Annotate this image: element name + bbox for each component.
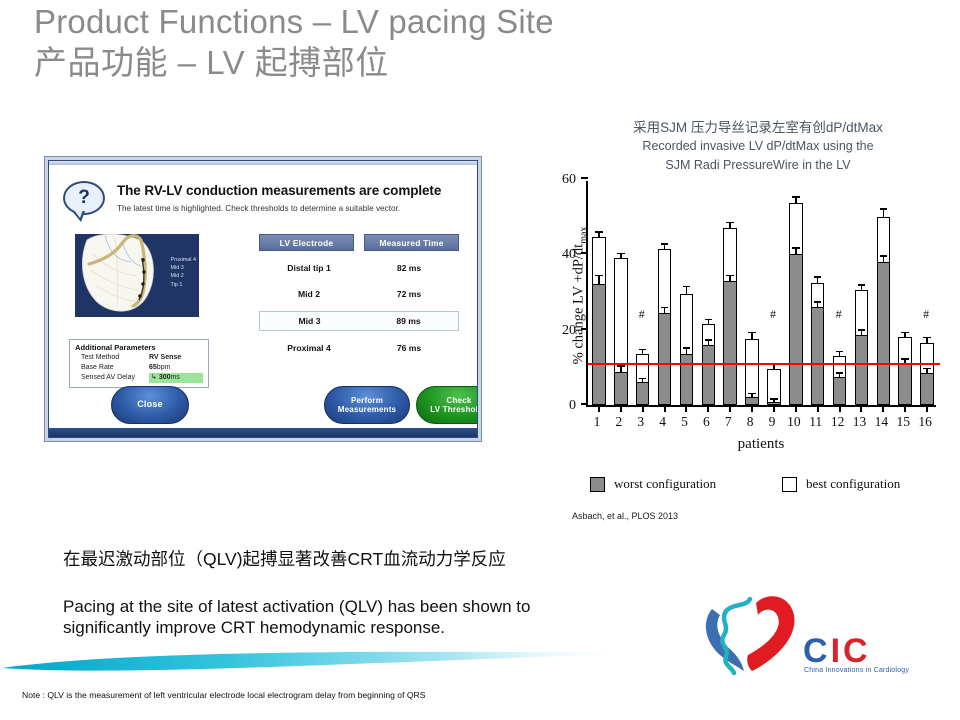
error-cap-worst-14 xyxy=(880,255,888,257)
chart-caption: 采用SJM 压力导丝记录左室有创dP/dtMax Recorded invasi… xyxy=(560,118,956,175)
x-axis-tick-15: 15 xyxy=(892,414,914,430)
y-tick-mark xyxy=(581,403,588,405)
error-cap-worst-12 xyxy=(836,372,844,374)
error-cap-worst-7 xyxy=(726,275,734,277)
x-tick-mark xyxy=(882,405,884,412)
x-tick-mark xyxy=(598,405,600,412)
chart-citation: Asbach, et al., PLOS 2013 xyxy=(572,511,678,521)
x-tick-mark xyxy=(620,405,622,412)
x-axis-tick-16: 16 xyxy=(914,414,936,430)
statement-english-line2: significantly improve CRT hemodynamic re… xyxy=(63,617,753,638)
x-tick-mark xyxy=(904,405,906,412)
table-row[interactable]: Proximal 4 76 ms xyxy=(259,339,459,357)
error-cap-worst-3 xyxy=(639,378,647,380)
device-screen: ? The RV-LV conduction measurements are … xyxy=(48,160,478,438)
error-bar-worst-3 xyxy=(642,379,644,382)
error-cap-best-1 xyxy=(595,231,603,233)
error-bar-best-10 xyxy=(795,198,797,204)
page-title-chinese: 产品功能 – LV 起搏部位 xyxy=(34,42,794,84)
column-header-lv-electrode: LV Electrode xyxy=(259,234,354,251)
heart-electrode-labels: Proximal 4 Mid 3 Mid 2 Tip 1 xyxy=(171,256,196,289)
x-axis-tick-7: 7 xyxy=(717,414,739,430)
table-row[interactable]: Mid 2 72 ms xyxy=(259,285,459,303)
x-axis-tick-3: 3 xyxy=(630,414,652,430)
legend-swatch-best-icon xyxy=(782,477,797,492)
logo-tagline: China Innovations in Cardiology xyxy=(804,667,909,674)
device-titlebar xyxy=(49,161,477,165)
table-row[interactable]: Distal tip 1 82 ms xyxy=(259,259,459,277)
decorative-swoosh xyxy=(0,650,650,684)
error-bar-worst-9 xyxy=(773,400,775,402)
error-bar-worst-2 xyxy=(620,367,622,372)
param-unit: bpm xyxy=(157,363,171,373)
error-bar-best-2 xyxy=(620,254,622,258)
check-lv-thresholds-button[interactable]: Check LV Thresholds xyxy=(416,386,478,424)
param-value: 300 xyxy=(159,373,171,383)
heart-label-tip1: Tip 1 xyxy=(171,281,196,289)
param-row-test-method[interactable]: Test Method RV Sense xyxy=(75,353,203,363)
error-bar-worst-8 xyxy=(751,394,753,397)
bar-worst-3 xyxy=(636,382,650,405)
y-tick-mark xyxy=(581,177,588,179)
error-cap-best-16 xyxy=(923,337,931,339)
statement-english: Pacing at the site of latest activation … xyxy=(63,596,753,638)
param-row-sensed-av-delay[interactable]: Sensed AV Delay ↳ 300 ms xyxy=(75,373,203,383)
x-axis-tick-6: 6 xyxy=(695,414,717,430)
x-axis-tick-13: 13 xyxy=(848,414,870,430)
cell-time: 89 ms xyxy=(359,316,458,326)
error-bar-best-7 xyxy=(729,223,731,228)
heart-label-mid2: Mid 2 xyxy=(171,272,196,280)
bar-worst-14 xyxy=(877,262,891,405)
error-bar-best-3 xyxy=(642,350,644,354)
device-bottom-bar xyxy=(49,428,477,437)
error-bar-worst-16 xyxy=(926,369,928,373)
error-cap-best-12 xyxy=(836,351,844,353)
page-title-english: Product Functions – LV pacing Site xyxy=(34,2,794,42)
logo-letter-i: I xyxy=(831,632,843,670)
x-tick-mark xyxy=(860,405,862,412)
x-tick-mark xyxy=(685,405,687,412)
error-cap-worst-15 xyxy=(901,358,909,360)
cell-electrode: Mid 2 xyxy=(259,289,359,299)
x-tick-mark xyxy=(707,405,709,412)
device-heading: The RV-LV conduction measurements are co… xyxy=(117,183,465,198)
param-key: Sensed AV Delay xyxy=(75,373,149,383)
error-cap-worst-8 xyxy=(748,393,756,395)
bar-worst-1 xyxy=(592,284,606,405)
param-value: RV Sense xyxy=(149,353,181,363)
error-bar-best-6 xyxy=(708,320,710,324)
perform-label-line2: Measurements xyxy=(338,405,396,414)
error-bar-worst-6 xyxy=(708,341,710,345)
x-axis-tick-10: 10 xyxy=(783,414,805,430)
heart-label-proximal4: Proximal 4 xyxy=(171,256,196,264)
error-cap-best-10 xyxy=(792,196,800,198)
bar-worst-15 xyxy=(898,364,912,405)
error-bar-best-11 xyxy=(817,278,819,283)
slide-footnote: Note : QLV is the measurement of left ve… xyxy=(22,690,425,700)
bar-worst-8 xyxy=(745,397,759,405)
y-tick-mark xyxy=(581,252,588,254)
device-screenshot-panel: ? The RV-LV conduction measurements are … xyxy=(44,156,482,442)
legend-item-best: best configuration xyxy=(782,476,900,492)
check-label-line2: LV Thresholds xyxy=(430,405,478,414)
y-axis-tick-60: 60 xyxy=(546,172,576,188)
error-bar-best-8 xyxy=(751,333,753,339)
error-cap-worst-16 xyxy=(923,368,931,370)
threshold-line xyxy=(588,363,940,365)
error-cap-best-7 xyxy=(726,222,734,224)
error-bar-worst-10 xyxy=(795,249,797,255)
cell-electrode: Distal tip 1 xyxy=(259,263,359,273)
x-axis-tick-5: 5 xyxy=(673,414,695,430)
error-bar-worst-13 xyxy=(861,331,863,336)
legend-label-worst: worst configuration xyxy=(614,476,716,492)
legend-swatch-worst-icon xyxy=(590,477,605,492)
table-row-highlighted[interactable]: Mid 3 89 ms xyxy=(259,311,459,331)
logo-wordmark: CIC xyxy=(803,632,871,671)
error-bar-worst-1 xyxy=(598,276,600,284)
x-tick-mark xyxy=(729,405,731,412)
error-bar-best-5 xyxy=(686,287,688,294)
legend-label-best: best configuration xyxy=(806,476,900,492)
chart-caption-english-line1: Recorded invasive LV dP/dtMax using the xyxy=(560,137,956,156)
bar-worst-7 xyxy=(723,281,737,405)
check-label-line1: Check xyxy=(446,396,471,405)
bar-worst-12 xyxy=(833,377,847,405)
error-cap-best-11 xyxy=(814,276,822,278)
x-axis-tick-8: 8 xyxy=(739,414,761,430)
error-cap-best-3 xyxy=(639,349,647,351)
error-cap-worst-5 xyxy=(683,347,691,349)
error-cap-best-6 xyxy=(705,319,713,321)
column-header-measured-time: Measured Time xyxy=(364,234,459,251)
error-cap-worst-2 xyxy=(617,365,625,367)
chart-x-axis-label: patients xyxy=(586,436,936,453)
bar-worst-2 xyxy=(614,372,628,405)
error-bar-best-14 xyxy=(883,210,885,217)
y-axis-tick-0: 0 xyxy=(546,398,576,414)
y-tick-mark xyxy=(581,328,588,330)
error-cap-worst-6 xyxy=(705,339,713,341)
x-axis-tick-9: 9 xyxy=(761,414,783,430)
error-cap-worst-10 xyxy=(792,247,800,249)
error-cap-best-5 xyxy=(683,286,691,288)
additional-parameters-box: Additional Parameters Test Method RV Sen… xyxy=(69,339,209,388)
logo-letter-c1: C xyxy=(803,632,831,670)
error-bar-worst-7 xyxy=(729,276,731,281)
param-unit: ms xyxy=(171,373,180,383)
bar-worst-13 xyxy=(855,335,869,405)
help-icon[interactable]: ? xyxy=(63,181,105,215)
x-axis-tick-11: 11 xyxy=(805,414,827,430)
annotation-hash-16: # xyxy=(923,307,929,322)
error-bar-worst-5 xyxy=(686,349,688,355)
error-cap-best-13 xyxy=(858,284,866,286)
bar-worst-4 xyxy=(658,313,672,405)
legend-item-worst: worst configuration xyxy=(590,476,716,492)
error-bar-worst-14 xyxy=(883,257,885,262)
x-tick-mark xyxy=(926,405,928,412)
error-bar-best-1 xyxy=(598,233,600,238)
x-axis-tick-14: 14 xyxy=(870,414,892,430)
heart-logo-icon xyxy=(690,585,810,681)
cell-time: 72 ms xyxy=(359,289,459,299)
perform-label-line1: Perform xyxy=(351,396,383,405)
error-cap-worst-13 xyxy=(858,329,866,331)
x-tick-mark xyxy=(642,405,644,412)
device-subheading: The latest time is highlighted. Check th… xyxy=(117,204,465,213)
param-key: Test Method xyxy=(75,353,149,363)
annotation-hash-12: # xyxy=(836,307,842,322)
arrow-icon: ↳ xyxy=(149,373,159,383)
x-tick-mark xyxy=(817,405,819,412)
x-tick-mark xyxy=(664,405,666,412)
y-axis-tick-20: 20 xyxy=(546,323,576,339)
error-cap-worst-9 xyxy=(770,398,778,400)
x-tick-mark xyxy=(751,405,753,412)
heart-label-mid3: Mid 3 xyxy=(171,264,196,272)
cell-time: 82 ms xyxy=(359,263,459,273)
error-bar-worst-4 xyxy=(664,308,666,313)
x-tick-mark xyxy=(839,405,841,412)
x-axis-tick-4: 4 xyxy=(652,414,674,430)
error-bar-worst-12 xyxy=(839,374,841,377)
bar-worst-5 xyxy=(680,354,694,405)
logo-letter-c2: C xyxy=(843,632,871,670)
error-bar-best-12 xyxy=(839,352,841,356)
error-cap-best-14 xyxy=(880,208,888,210)
error-cap-best-4 xyxy=(661,243,669,245)
param-value: 65 xyxy=(149,363,157,373)
error-bar-best-4 xyxy=(664,245,666,249)
bar-chart: % change LV +dP/dtmax #### patients 0204… xyxy=(520,168,950,468)
error-bar-worst-11 xyxy=(817,303,819,308)
x-axis-tick-2: 2 xyxy=(608,414,630,430)
bar-worst-6 xyxy=(702,345,716,405)
cic-logo: CIC China Innovations in Cardiology xyxy=(690,585,940,685)
error-cap-worst-11 xyxy=(814,301,822,303)
cell-time: 76 ms xyxy=(359,343,459,353)
close-button[interactable]: Close xyxy=(111,386,189,424)
lv-electrode-table: LV Electrode Measured Time Distal tip 1 … xyxy=(259,234,459,357)
perform-measurements-button[interactable]: Perform Measurements xyxy=(324,386,410,424)
table-header-row: LV Electrode Measured Time xyxy=(259,234,459,251)
annotation-hash-9: # xyxy=(770,307,776,322)
annotation-hash-3: # xyxy=(639,307,645,322)
chart-caption-chinese: 采用SJM 压力导丝记录左室有创dP/dtMax xyxy=(560,118,956,137)
y-axis-tick-40: 40 xyxy=(546,247,576,263)
bar-worst-16 xyxy=(920,373,934,405)
x-tick-mark xyxy=(795,405,797,412)
error-cap-worst-4 xyxy=(661,307,669,309)
cell-electrode: Mid 3 xyxy=(260,316,359,326)
x-tick-mark xyxy=(773,405,775,412)
heart-anatomy-image: Proximal 4 Mid 3 Mid 2 Tip 1 xyxy=(75,234,199,317)
error-cap-best-15 xyxy=(901,332,909,334)
error-bar-best-16 xyxy=(926,338,928,343)
error-bar-best-15 xyxy=(904,333,906,337)
bar-worst-9 xyxy=(767,402,781,405)
param-row-base-rate[interactable]: Base Rate 65 bpm xyxy=(75,363,203,373)
additional-parameters-title: Additional Parameters xyxy=(75,343,203,352)
x-axis-tick-1: 1 xyxy=(586,414,608,430)
statement-chinese: 在最迟激动部位（QLV)起搏显著改善CRT血流动力学反应 xyxy=(63,546,743,572)
statement-english-line1: Pacing at the site of latest activation … xyxy=(63,596,753,617)
param-key: Base Rate xyxy=(75,363,149,373)
error-bar-best-13 xyxy=(861,286,863,291)
x-axis-tick-12: 12 xyxy=(827,414,849,430)
error-cap-best-8 xyxy=(748,332,756,334)
bar-worst-11 xyxy=(811,307,825,405)
error-cap-best-2 xyxy=(617,253,625,255)
chart-plot-area: #### xyxy=(586,181,936,407)
bar-worst-10 xyxy=(789,254,803,405)
slide-title-block: Product Functions – LV pacing Site 产品功能 … xyxy=(34,2,794,84)
error-cap-worst-1 xyxy=(595,275,603,277)
cell-electrode: Proximal 4 xyxy=(259,343,359,353)
